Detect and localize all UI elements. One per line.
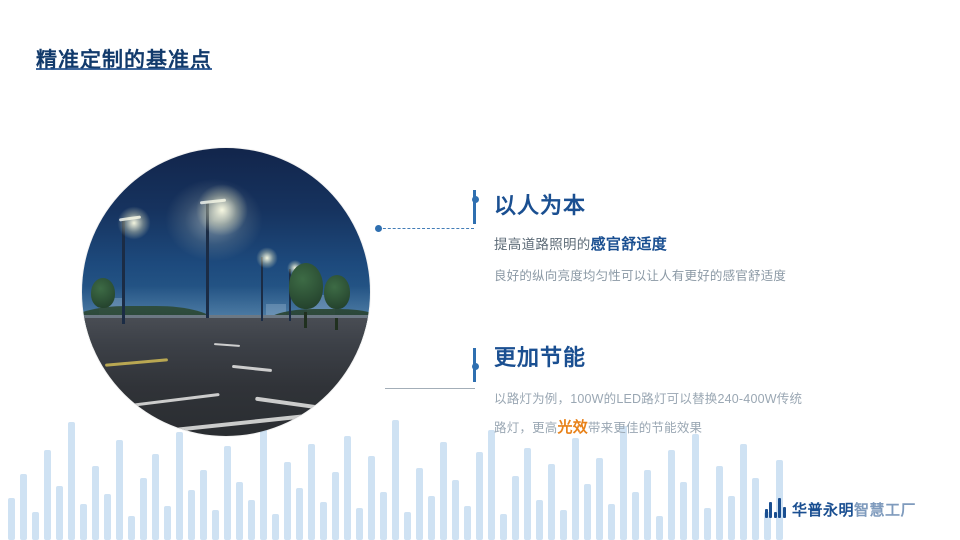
title-underline [36,68,212,70]
logo-suffix: 智慧工厂 [854,502,916,519]
photo-road-edge [82,315,370,318]
point-block-2: 更加节能 以路灯为例，100W的LED路灯可以替换240-400W传统 路灯，更… [494,340,894,444]
connector-node-1 [375,225,382,232]
logo-bars-icon [765,496,786,518]
point-2-body-line2-post: 带来更佳的节能效果 [588,421,702,435]
point-2-body-line1: 以路灯为例，100W的LED路灯可以替换240-400W传统 [494,392,802,406]
point-block-1: 以人为本 提高道路照明的感官舒适度 良好的纵向亮度均匀性可以让人有更好的感官舒适… [494,188,786,289]
connector-dashed-1 [378,228,474,229]
point-1-subtitle: 提高道路照明的感官舒适度 [494,233,786,254]
slide-root: 精准定制的基准点 [0,0,960,540]
accent-bar-2 [473,348,476,382]
logo-text: 华普永明智慧工厂 [792,503,916,518]
point-1-body: 良好的纵向亮度均匀性可以让人有更好的感官舒适度 [494,265,786,289]
point-1-sub-accent: 感官舒适度 [591,236,668,253]
point-2-heading: 更加节能 [494,340,894,372]
photo-road [82,315,370,436]
night-road-streetlight-photo [82,148,370,436]
accent-bar-1 [473,190,476,224]
logo-brand: 华普永明 [792,502,854,519]
point-1-heading: 以人为本 [494,188,786,220]
point-2-body: 以路灯为例，100W的LED路灯可以替换240-400W传统 路灯，更高光效带来… [494,386,894,444]
point-2-body-line2-pre: 路灯，更高 [494,421,558,435]
point-1-sub-prefix: 提高道路照明的 [494,237,591,252]
connector-solid-2 [385,388,475,389]
point-2-body-accent: 光效 [558,419,588,436]
company-logo: 华普永明智慧工厂 [765,496,916,518]
